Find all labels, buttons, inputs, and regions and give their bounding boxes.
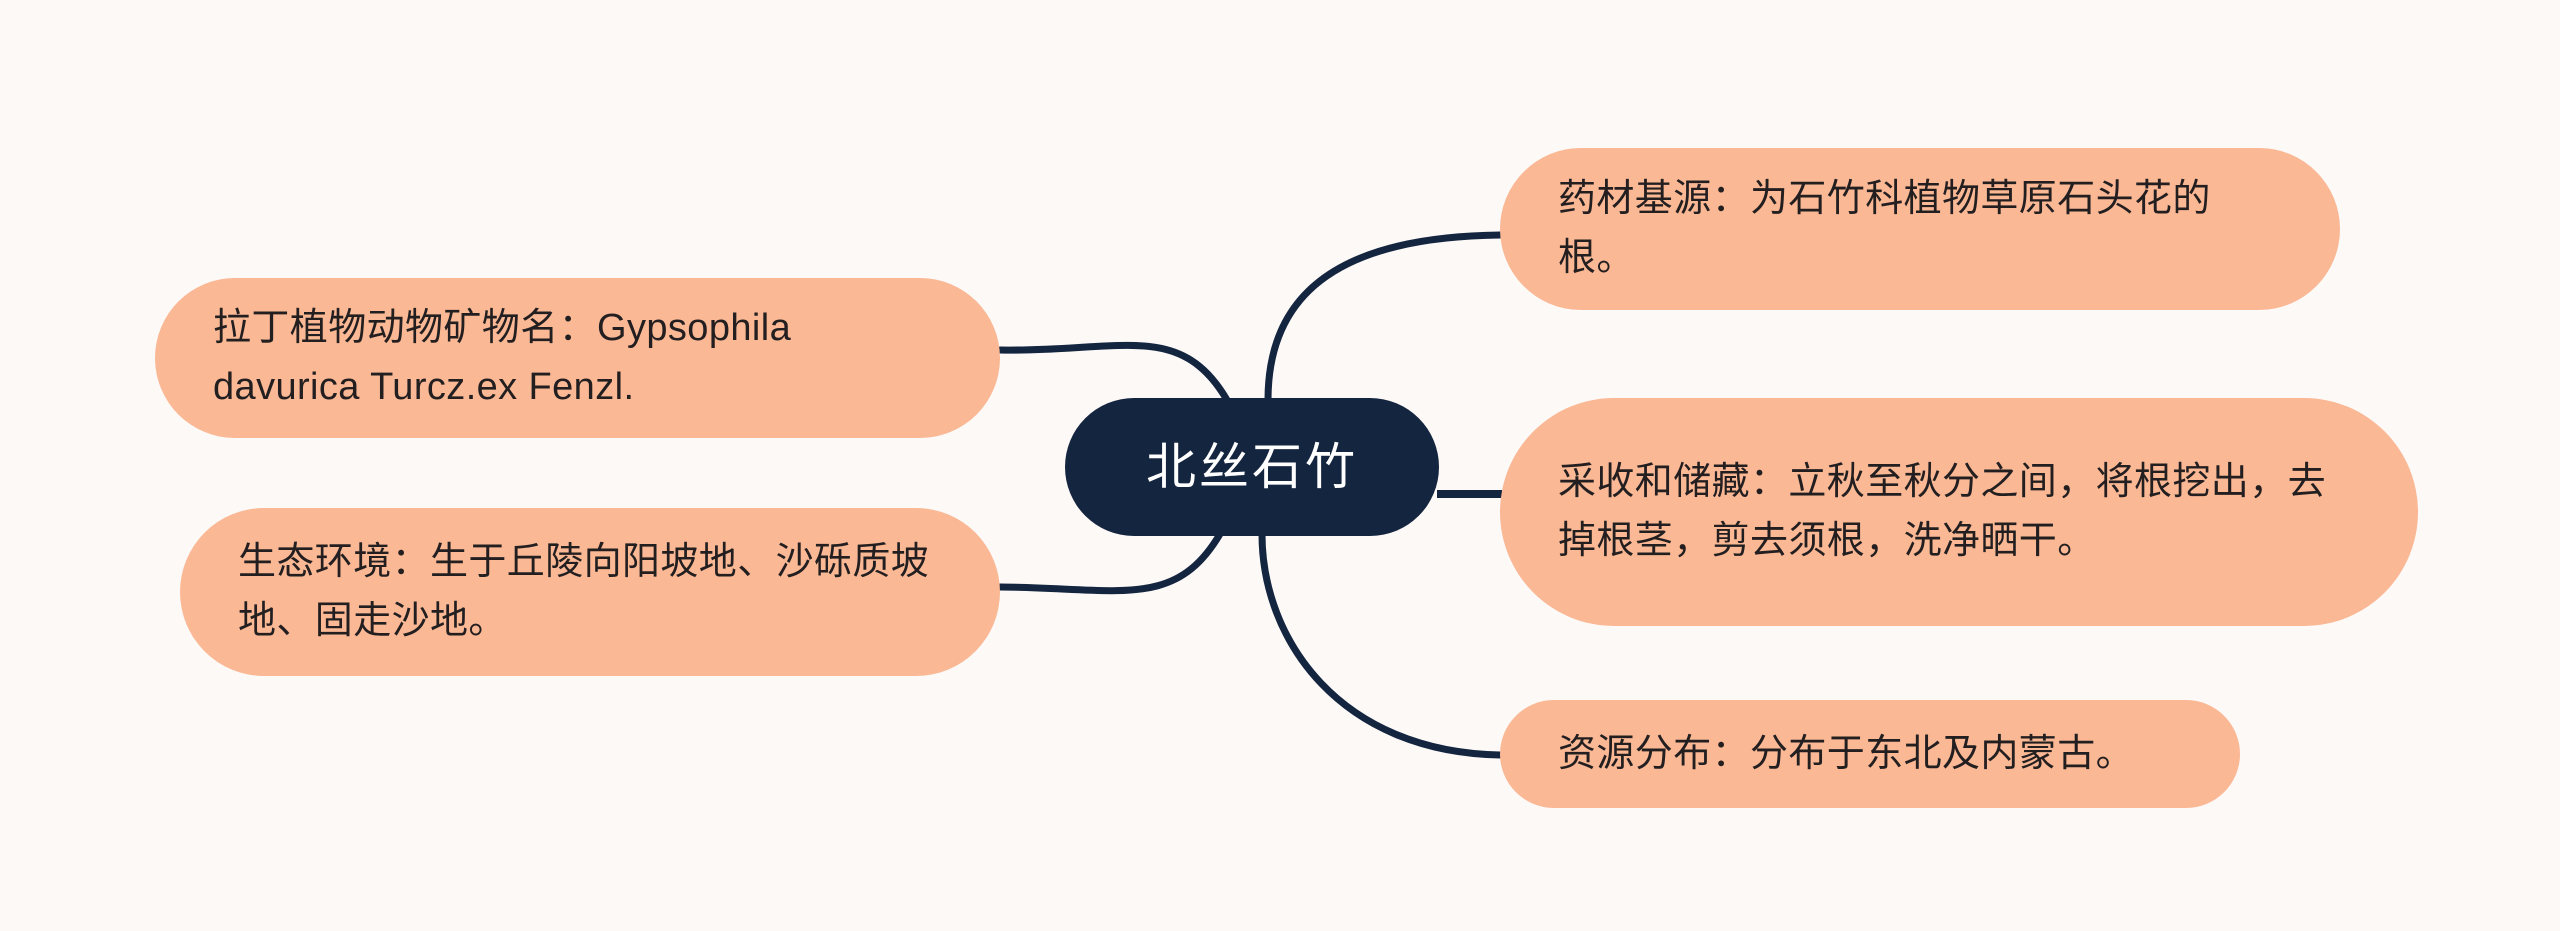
branch-node-left-2-label: 生态环境：生于丘陵向阳坡地、沙砾质坡地、固走沙地。 — [238, 533, 942, 651]
connector-center-to-right-3 — [1262, 534, 1500, 755]
connector-center-to-left-2 — [1000, 534, 1220, 591]
center-node[interactable]: 北丝石竹 — [1065, 398, 1439, 536]
branch-node-right-2-label: 采收和储藏：立秋至秋分之间，将根挖出，去掉根茎，剪去须根，洗净晒干。 — [1558, 453, 2360, 571]
branch-node-left-1-label: 拉丁植物动物矿物名：Gypsophila davurica Turcz.ex F… — [213, 299, 942, 417]
mindmap-canvas: 北丝石竹 药材基源：为石竹科植物草原石头花的根。 采收和储藏：立秋至秋分之间，将… — [0, 0, 2560, 931]
branch-node-left-2[interactable]: 生态环境：生于丘陵向阳坡地、沙砾质坡地、固走沙地。 — [180, 508, 1000, 676]
branch-node-left-1[interactable]: 拉丁植物动物矿物名：Gypsophila davurica Turcz.ex F… — [155, 278, 1000, 438]
branch-node-right-3-label: 资源分布：分布于东北及内蒙古。 — [1558, 725, 2182, 784]
branch-node-right-1[interactable]: 药材基源：为石竹科植物草原石头花的根。 — [1500, 148, 2340, 310]
center-node-label: 北丝石竹 — [1065, 437, 1439, 497]
connector-center-to-right-1 — [1268, 235, 1500, 400]
branch-node-right-1-label: 药材基源：为石竹科植物草原石头花的根。 — [1558, 170, 2282, 288]
branch-node-right-3[interactable]: 资源分布：分布于东北及内蒙古。 — [1500, 700, 2240, 808]
connector-center-to-left-1 — [1000, 345, 1227, 400]
branch-node-right-2[interactable]: 采收和储藏：立秋至秋分之间，将根挖出，去掉根茎，剪去须根，洗净晒干。 — [1500, 398, 2418, 626]
